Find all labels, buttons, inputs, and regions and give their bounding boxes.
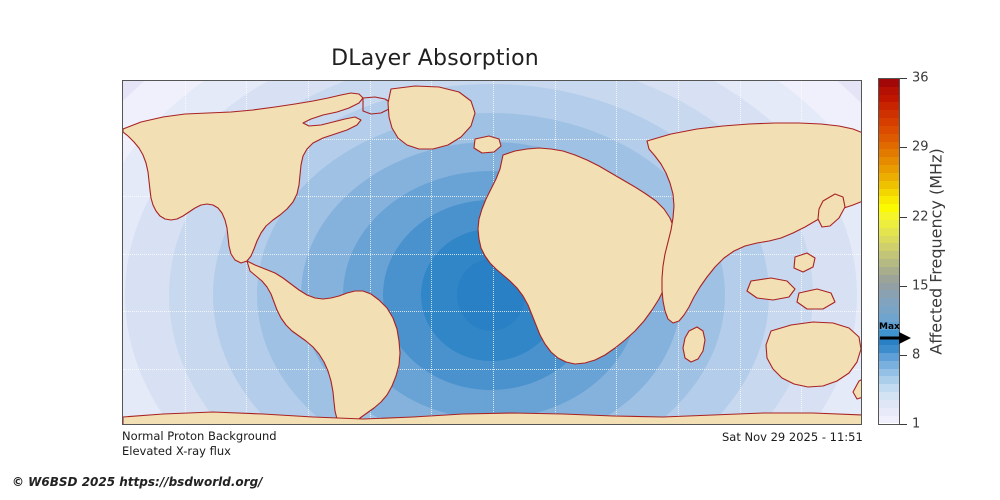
colorbar-segment: [879, 220, 899, 228]
colorbar-segment: [879, 392, 899, 400]
colorbar-segment: [879, 157, 899, 165]
colorbar-segment: [879, 306, 899, 314]
colorbar-tick-label: 8: [912, 348, 920, 363]
timestamp: Sat Nov 29 2025 - 11:51: [722, 430, 863, 444]
colorbar-segment: [879, 314, 899, 322]
page-title: DLayer Absorption: [0, 46, 870, 71]
colorbar-segment: [879, 228, 899, 236]
colorbar-segment: [879, 298, 899, 306]
colorbar-tick: [900, 217, 907, 218]
colorbar-segment: [879, 345, 899, 353]
colorbar-segment: [879, 236, 899, 244]
colorbar[interactable]: [878, 78, 900, 425]
colorbar-segment: [879, 204, 899, 212]
colorbar-tick-label: 1: [912, 417, 920, 432]
colorbar-segment: [879, 87, 899, 95]
colorbar-segment: [879, 102, 899, 110]
status-xray-flux: Elevated X-ray flux: [122, 444, 277, 459]
status-messages: Normal Proton Background Elevated X-ray …: [122, 429, 277, 459]
colorbar-axis-label-text: Affected Frequency (MHz): [927, 148, 946, 354]
colorbar-segment: [879, 79, 899, 87]
colorbar-segment: [879, 126, 899, 134]
copyright-notice: © W6BSD 2025 https://bsdworld.org/: [12, 475, 263, 489]
colorbar-segment: [879, 275, 899, 283]
colorbar-segment: [879, 416, 899, 424]
colorbar-segment: [879, 118, 899, 126]
colorbar-tick: [900, 286, 907, 287]
colorbar-segment: [879, 267, 899, 275]
colorbar-segment: [879, 337, 899, 345]
colorbar-tick: [900, 424, 907, 425]
colorbar-segment: [879, 173, 899, 181]
colorbar-segment: [879, 283, 899, 291]
status-proton-background: Normal Proton Background: [122, 429, 277, 444]
colorbar-segment: [879, 290, 899, 298]
colorbar-segment: [879, 408, 899, 416]
colorbar-tick: [900, 78, 907, 79]
colorbar-axis-label: Affected Frequency (MHz): [925, 78, 947, 425]
colorbar-segment: [879, 361, 899, 369]
colorbar-segment: [879, 149, 899, 157]
coastlines: [123, 81, 862, 425]
absorption-map[interactable]: [122, 80, 862, 425]
colorbar-segment: [879, 330, 899, 338]
colorbar-segment: [879, 165, 899, 173]
colorbar-segment: [879, 322, 899, 330]
colorbar-segment: [879, 181, 899, 189]
colorbar-segment: [879, 243, 899, 251]
colorbar-segment: [879, 251, 899, 259]
colorbar-segment: [879, 212, 899, 220]
colorbar-tick: [900, 147, 907, 148]
colorbar-segment: [879, 196, 899, 204]
colorbar-segment: [879, 353, 899, 361]
colorbar-segment: [879, 134, 899, 142]
colorbar-segment: [879, 95, 899, 103]
colorbar-tick: [900, 355, 907, 356]
colorbar-segment: [879, 142, 899, 150]
colorbar-segment: [879, 376, 899, 384]
colorbar-segment: [879, 400, 899, 408]
colorbar-gradient: [878, 78, 900, 425]
colorbar-segment: [879, 110, 899, 118]
colorbar-segment: [879, 189, 899, 197]
colorbar-segment: [879, 384, 899, 392]
colorbar-segment: [879, 259, 899, 267]
colorbar-segment: [879, 369, 899, 377]
